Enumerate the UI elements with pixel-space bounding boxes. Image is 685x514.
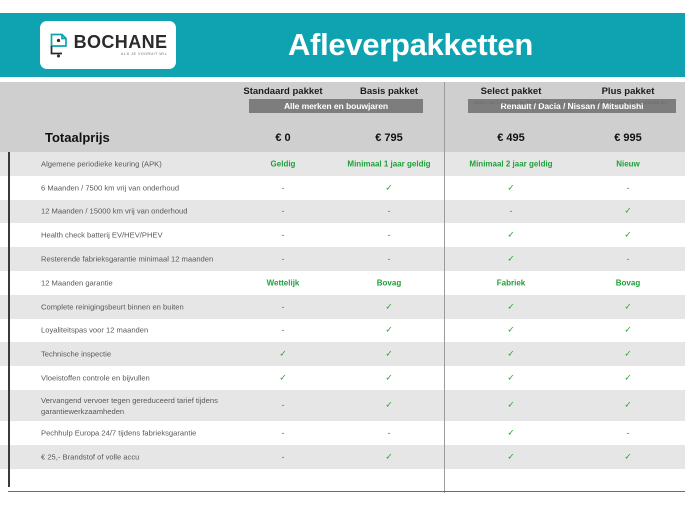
- package-name: Standaard pakket: [243, 86, 323, 97]
- table-row: Vervangend vervoer tegen gereduceerd tar…: [0, 390, 685, 421]
- table-row: Loyaliteitspas voor 12 maanden-✓✓✓: [0, 319, 685, 343]
- not-included-dash: -: [578, 254, 678, 264]
- row-left-rule: [8, 271, 10, 295]
- feature-value: Nieuw: [578, 159, 678, 168]
- check-icon: ✓: [458, 349, 564, 360]
- feature-label: Vloeistoffen controle en bijvullen: [41, 373, 241, 384]
- table-row: Resterende fabrieksgarantie minimaal 12 …: [0, 247, 685, 271]
- check-icon: ✓: [578, 349, 678, 360]
- row-left-rule: [8, 319, 10, 343]
- group-divider: [444, 82, 445, 493]
- feature-value: Minimaal 2 jaar geldig: [458, 159, 564, 168]
- check-icon: ✓: [339, 325, 439, 336]
- not-included-dash: -: [243, 302, 323, 312]
- table-row: Algemene periodieke keuring (APK)GeldigM…: [0, 152, 685, 176]
- feature-value: Minimaal 1 jaar geldig: [339, 159, 439, 168]
- check-icon: ✓: [458, 427, 564, 438]
- row-left-rule: [8, 366, 10, 390]
- check-icon: ✓: [578, 325, 678, 336]
- not-included-dash: -: [339, 206, 439, 216]
- row-left-rule: [8, 176, 10, 200]
- page-header-banner: BOCHANE ALS JE VOORUIT WIL Afleverpakket…: [0, 13, 685, 77]
- table-row: 12 Maanden / 15000 km vrij van onderhoud…: [0, 200, 685, 224]
- not-included-dash: -: [243, 183, 323, 193]
- not-included-dash: -: [578, 183, 678, 193]
- table-row: Health check batterij EV/HEV/PHEV--✓✓: [0, 223, 685, 247]
- not-included-dash: -: [243, 428, 323, 438]
- check-icon: ✓: [458, 325, 564, 336]
- feature-label: Pechhulp Europa 24/7 tijdens fabrieksgar…: [41, 427, 241, 438]
- check-icon: ✓: [578, 301, 678, 312]
- table-row: 6 Maanden / 7500 km vrij van onderhoud-✓…: [0, 176, 685, 200]
- check-icon: ✓: [458, 373, 564, 384]
- row-left-rule: [8, 390, 10, 421]
- feature-label: Loyaliteitspas voor 12 maanden: [41, 325, 241, 336]
- package-price: € 795: [339, 132, 439, 144]
- not-included-dash: -: [243, 452, 323, 462]
- package-column-header: Select pakketAuto's tot 1 jaar oud en 20…: [458, 82, 564, 152]
- package-column-header: Plus pakketAuto's tot 5 jaar oud en 100.…: [578, 82, 678, 152]
- feature-value: Fabriek: [458, 278, 564, 287]
- check-icon: ✓: [458, 182, 564, 193]
- bochane-b-mark-icon: [49, 32, 69, 58]
- row-left-rule: [8, 445, 10, 469]
- not-included-dash: -: [243, 206, 323, 216]
- table-row: Pechhulp Europa 24/7 tijdens fabrieksgar…: [0, 421, 685, 445]
- bochane-logo: BOCHANE ALS JE VOORUIT WIL: [40, 21, 176, 69]
- check-icon: ✓: [339, 400, 439, 411]
- check-icon: ✓: [458, 254, 564, 265]
- feature-label: Complete reinigingsbeurt binnen en buite…: [41, 301, 241, 312]
- check-icon: ✓: [578, 206, 678, 217]
- row-left-rule: [8, 421, 10, 445]
- check-icon: ✓: [243, 349, 323, 360]
- package-price: € 495: [458, 132, 564, 144]
- package-price: € 0: [243, 132, 323, 144]
- package-eligibility-note: Auto's tot 1 jaar oud en 20.000 km: [458, 100, 564, 105]
- check-icon: ✓: [339, 182, 439, 193]
- package-name: Basis pakket: [339, 86, 439, 97]
- feature-value: Wettelijk: [243, 278, 323, 287]
- feature-value: Bovag: [578, 278, 678, 287]
- check-icon: ✓: [339, 301, 439, 312]
- not-included-dash: -: [578, 428, 678, 438]
- table-row: Technische inspectie✓✓✓✓: [0, 342, 685, 366]
- row-left-rule: [8, 247, 10, 271]
- table-row: Complete reinigingsbeurt binnen en buite…: [0, 295, 685, 319]
- package-column-header: Standaard pakket€ 0: [243, 82, 323, 152]
- check-icon: ✓: [458, 301, 564, 312]
- package-name: Plus pakket: [578, 86, 678, 97]
- check-icon: ✓: [578, 230, 678, 241]
- feature-label: Health check batterij EV/HEV/PHEV: [41, 230, 241, 241]
- feature-label: Vervangend vervoer tegen gereduceerd tar…: [41, 395, 241, 417]
- not-included-dash: -: [243, 400, 323, 410]
- table-tail-row: [0, 469, 685, 487]
- table-bottom-edge: [8, 491, 685, 492]
- check-icon: ✓: [243, 373, 323, 384]
- not-included-dash: -: [339, 428, 439, 438]
- feature-value: Geldig: [243, 159, 323, 168]
- check-icon: ✓: [578, 451, 678, 462]
- not-included-dash: -: [458, 206, 564, 216]
- row-left-rule: [8, 200, 10, 224]
- not-included-dash: -: [339, 230, 439, 240]
- logo-wordmark: BOCHANE: [74, 33, 168, 51]
- package-name: Select pakket: [458, 86, 564, 97]
- check-icon: ✓: [339, 349, 439, 360]
- row-left-rule: [8, 223, 10, 247]
- not-included-dash: -: [243, 254, 323, 264]
- table-header-band: Totaalprijs Alle merken en bouwjarenStan…: [0, 82, 685, 152]
- row-left-rule: [8, 295, 10, 319]
- feature-value: Bovag: [339, 278, 439, 287]
- feature-label: Technische inspectie: [41, 349, 241, 360]
- not-included-dash: -: [243, 325, 323, 335]
- feature-label: Algemene periodieke keuring (APK): [41, 158, 241, 169]
- check-icon: ✓: [458, 230, 564, 241]
- feature-label: 12 Maanden / 15000 km vrij van onderhoud: [41, 206, 241, 217]
- table-row: € 25,- Brandstof of volle accu-✓✓✓: [0, 445, 685, 469]
- package-column-header: Basis pakket€ 795: [339, 82, 439, 152]
- check-icon: ✓: [339, 451, 439, 462]
- not-included-dash: -: [243, 230, 323, 240]
- row-left-rule: [8, 342, 10, 366]
- afleverpakketten-page: BOCHANE ALS JE VOORUIT WIL Afleverpakket…: [0, 0, 685, 514]
- feature-label: 6 Maanden / 7500 km vrij van onderhoud: [41, 182, 241, 193]
- row-left-rule: [8, 152, 10, 176]
- package-eligibility-note: Auto's tot 5 jaar oud en 100.000 km: [578, 100, 678, 105]
- page-title: Afleverpakketten: [176, 27, 645, 63]
- check-icon: ✓: [458, 451, 564, 462]
- package-price: € 995: [578, 132, 678, 144]
- check-icon: ✓: [578, 400, 678, 411]
- not-included-dash: -: [339, 254, 439, 264]
- row-left-rule: [8, 469, 10, 487]
- logo-tagline: ALS JE VOORUIT WIL: [121, 53, 168, 57]
- feature-label: 12 Maanden garantie: [41, 277, 241, 288]
- table-row: Vloeistoffen controle en bijvullen✓✓✓✓: [0, 366, 685, 390]
- table-row: 12 Maanden garantieWettelijkBovagFabriek…: [0, 271, 685, 295]
- comparison-table-body: Algemene periodieke keuring (APK)GeldigM…: [0, 152, 685, 487]
- check-icon: ✓: [339, 373, 439, 384]
- check-icon: ✓: [458, 400, 564, 411]
- feature-label: Resterende fabrieksgarantie minimaal 12 …: [41, 254, 241, 265]
- feature-label: € 25,- Brandstof of volle accu: [41, 451, 241, 462]
- check-icon: ✓: [578, 373, 678, 384]
